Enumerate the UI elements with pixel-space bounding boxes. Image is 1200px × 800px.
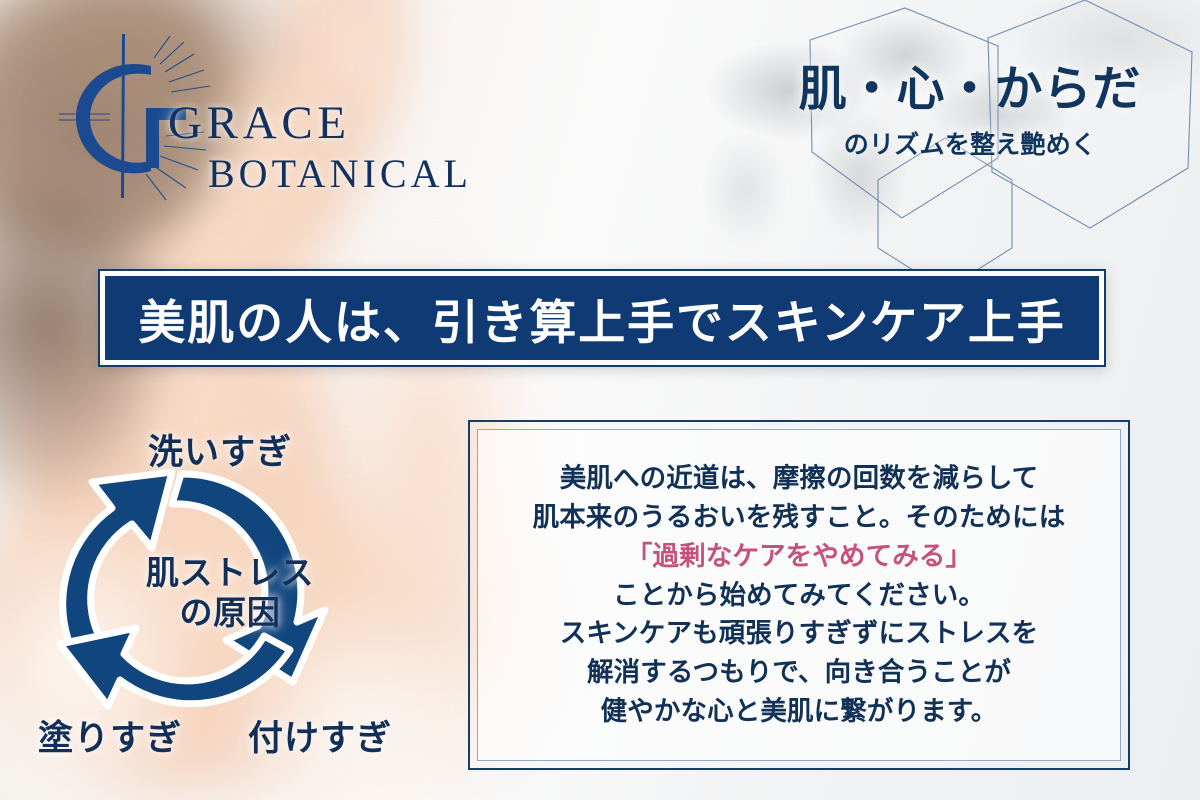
cycle-label-top: 洗いすぎ [148,424,292,475]
skin-stress-cycle-diagram: 洗いすぎ 塗りすぎ 付けすぎ 肌ストレス の原因 [20,414,460,786]
body-copy-line: 健やかな心と美肌に繋がります。 [601,692,998,731]
body-copy-panel: 美肌への近道は、摩擦の回数を減らして 肌本来のうるおいを残すこと。そのためには … [468,420,1130,770]
cycle-label-bottom-right: 付けすぎ [248,710,392,761]
catch-line1: 肌・心・からだ [760,62,1180,119]
body-copy-line: 美肌への近道は、摩擦の回数を減らして [560,459,1039,498]
banner-canvas: GRACE BOTANICAL 肌・心・からだ のリズムを整え艶めく 美肌の人は… [0,0,1200,800]
catch-line2: のリズムを整え艶めく [760,125,1180,161]
brand-logo: GRACE BOTANICAL [58,28,478,208]
headline-banner-fill: 美肌の人は、引き算上手でスキンケア上手 [105,276,1099,360]
cycle-label-bottom-left: 塗りすぎ [38,710,182,761]
cycle-center-line1: 肌ストレス [120,554,340,594]
brand-name-line2: BOTANICAL [208,150,472,197]
brand-name-line1: GRACE [168,96,351,150]
headline-banner: 美肌の人は、引き算上手でスキンケア上手 [98,269,1106,367]
body-copy-panel-inner: 美肌への近道は、摩擦の回数を減らして 肌本来のうるおいを残すこと。そのためには … [477,429,1121,761]
body-copy-line: 解消するつもりで、向き合うことが [587,653,1011,692]
headline-text: 美肌の人は、引き算上手でスキンケア上手 [138,284,1065,353]
catch-copy: 肌・心・からだ のリズムを整え艶めく [760,62,1180,161]
cycle-center-label: 肌ストレス の原因 [120,554,340,635]
body-copy-line: スキンケアも頑張りすぎずにストレスを [560,614,1039,653]
body-copy-line-accent: 「過剰なケアをやめてみる」 [626,537,972,576]
body-copy-line: ことから始めてみてください。 [613,576,985,615]
cycle-center-line2: の原因 [120,594,340,634]
body-copy-line: 肌本来のうるおいを残すこと。そのためには [533,498,1066,537]
